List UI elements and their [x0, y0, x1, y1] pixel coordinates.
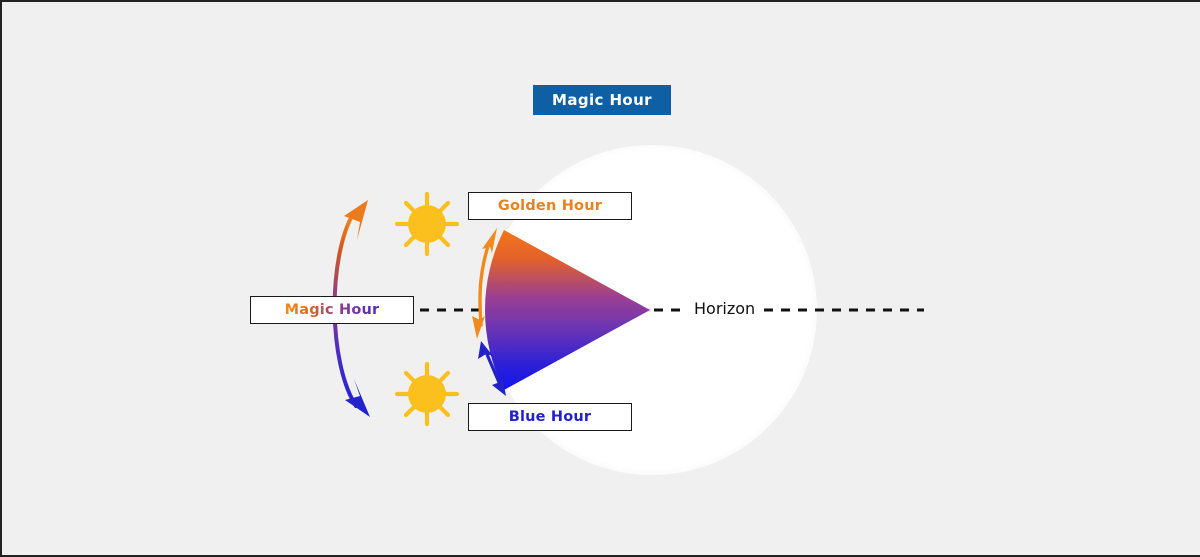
magic-hour-arrow-down	[345, 379, 370, 417]
sun-icon-golden-hour	[397, 194, 457, 254]
label-magic-hour-text: Magic Hour	[285, 302, 380, 318]
sun-icon-blue-hour	[397, 364, 457, 424]
label-golden-hour: Golden Hour	[468, 192, 632, 220]
golden-hour-arrow-up	[482, 228, 497, 253]
diagram-canvas: Magic Hour Golden Hour Blue Hour Magic H…	[0, 0, 1200, 557]
label-horizon: Horizon	[694, 299, 755, 318]
label-magic-hour: Magic Hour	[250, 296, 414, 324]
label-blue-hour-text: Blue Hour	[509, 409, 592, 425]
label-blue-hour: Blue Hour	[468, 403, 632, 431]
golden-hour-arrow-down	[472, 316, 485, 339]
magic-hour-arrow-up	[344, 200, 368, 240]
label-golden-hour-text: Golden Hour	[498, 198, 602, 214]
page-title-badge: Magic Hour	[533, 85, 671, 115]
